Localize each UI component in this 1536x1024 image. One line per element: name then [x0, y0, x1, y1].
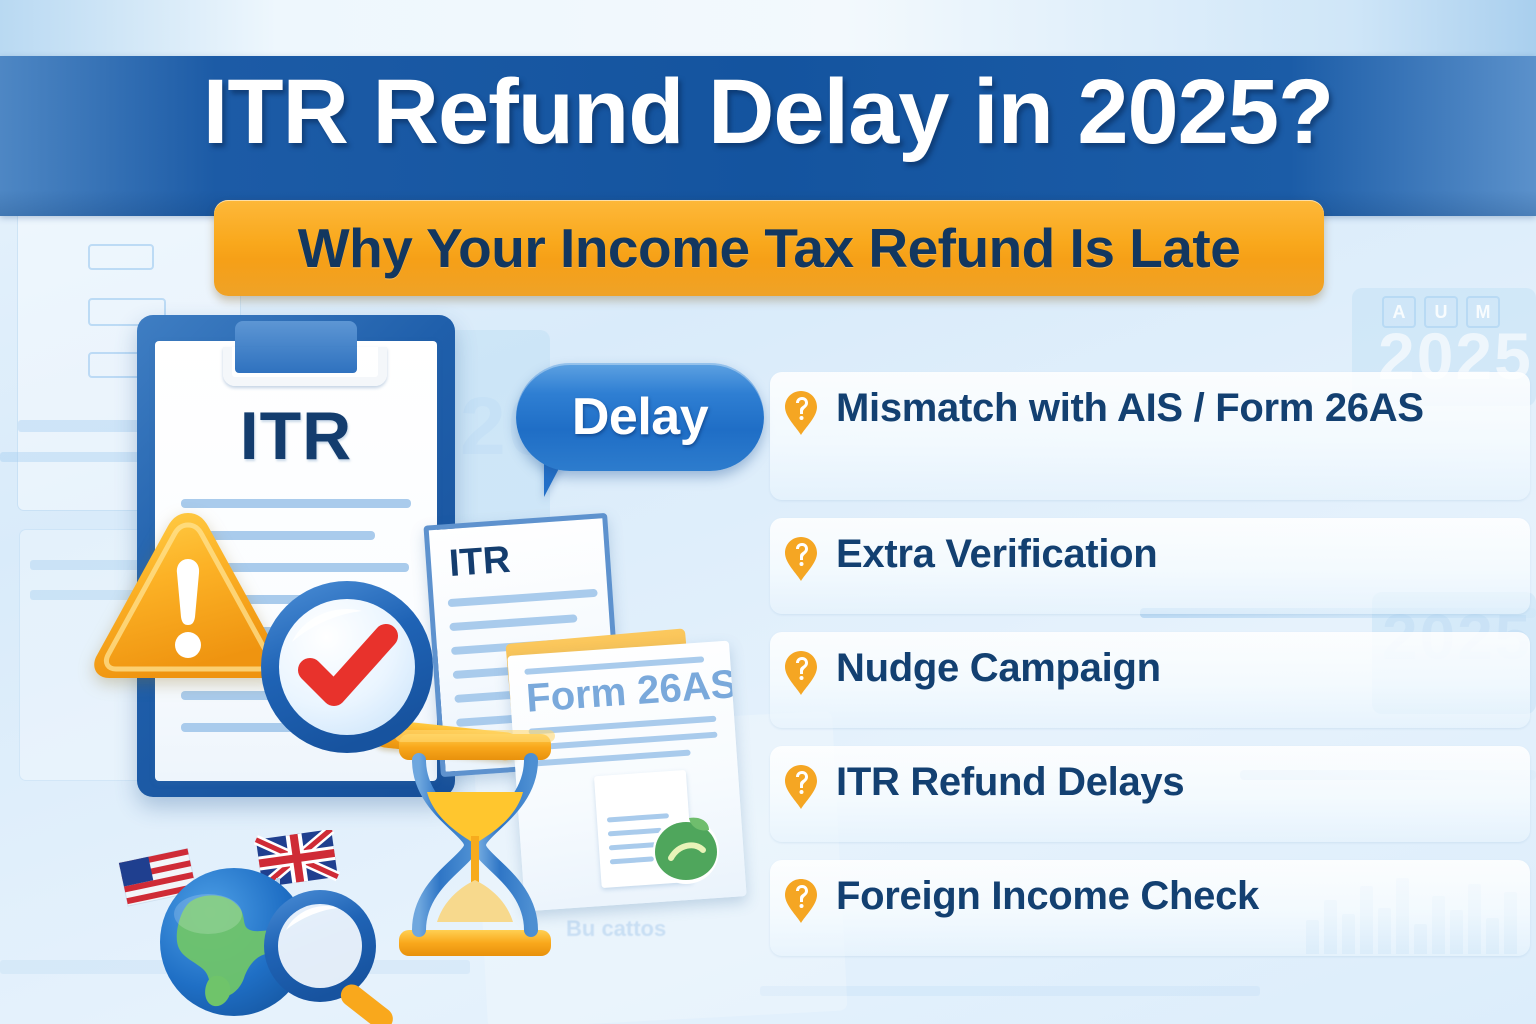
list-item-label: Mismatch with AIS / Form 26AS	[836, 384, 1424, 433]
background-letter-box: U	[1424, 296, 1458, 328]
globe-flags-group	[108, 830, 428, 1024]
paper-line	[448, 589, 598, 607]
green-apple-icon	[645, 806, 727, 888]
map-pin-question-icon	[784, 764, 818, 810]
globe-illustration	[108, 830, 428, 1024]
speech-bubble-label: Delay	[572, 387, 708, 447]
subtitle-text: Why Your Income Tax Refund Is Late	[298, 216, 1241, 280]
background-letter-box: A	[1382, 296, 1416, 328]
list-item[interactable]: ITR Refund Delays	[770, 746, 1530, 842]
map-pin-question-icon	[784, 650, 818, 696]
map-pin-question-icon	[784, 878, 818, 924]
list-item[interactable]: Foreign Income Check	[770, 860, 1530, 956]
magnifier-checkmark-icon	[258, 578, 436, 756]
background-chip	[88, 244, 154, 270]
list-item[interactable]: Mismatch with AIS / Form 26AS	[770, 372, 1530, 500]
list-item-label: ITR Refund Delays	[836, 758, 1184, 807]
clipboard-clip	[235, 321, 357, 373]
map-pin-question-icon	[784, 390, 818, 436]
reasons-list: Mismatch with AIS / Form 26AS Extra Veri…	[770, 372, 1530, 974]
list-item-label: Foreign Income Check	[836, 872, 1259, 921]
top-strip	[0, 0, 1536, 58]
list-item[interactable]: Extra Verification	[770, 518, 1530, 614]
subtitle-banner: Why Your Income Tax Refund Is Late	[214, 200, 1324, 296]
itr-document-label: ITR	[448, 539, 512, 586]
paper-line	[449, 614, 577, 631]
infographic-poster: 2025 2025 A U M 2025 2025 Bu cattos	[0, 0, 1536, 1024]
list-item[interactable]: Nudge Campaign	[770, 632, 1530, 728]
background-faint-text: Bu cattos	[566, 916, 666, 942]
map-pin-question-icon	[784, 536, 818, 582]
background-letter-box: M	[1466, 296, 1500, 328]
delay-speech-bubble: Delay	[516, 363, 764, 471]
list-item-label: Nudge Campaign	[836, 644, 1161, 693]
background-bar	[760, 986, 1260, 996]
magnifier-icon	[264, 890, 397, 1024]
clipboard-itr-label: ITR	[155, 397, 437, 475]
list-item-label: Extra Verification	[836, 530, 1157, 579]
page-title: ITR Refund Delay in 2025?	[0, 66, 1536, 158]
